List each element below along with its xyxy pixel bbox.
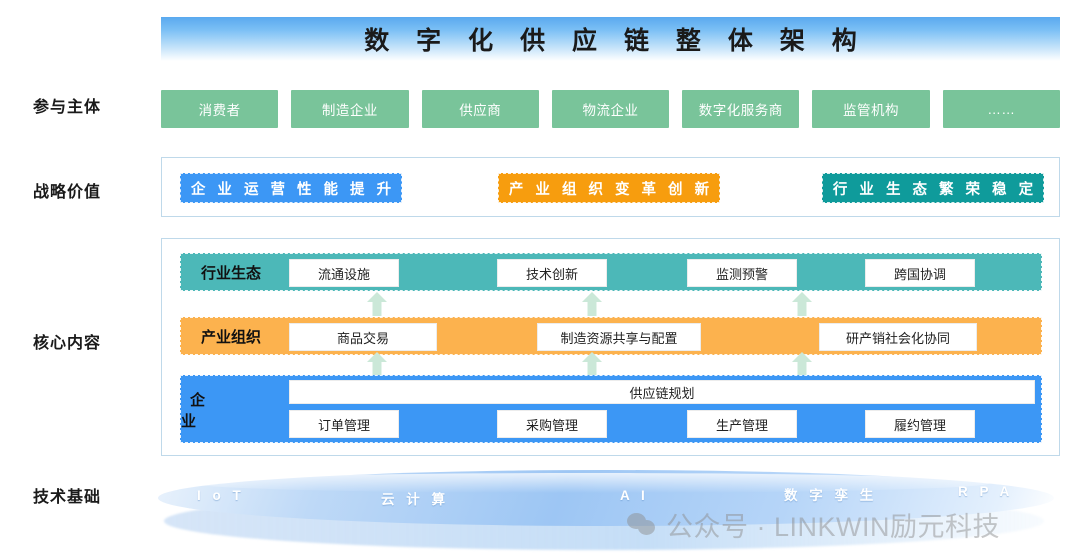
- architecture-diagram: 数 字 化 供 应 链 整 体 架 构 参与主体 战略价值 核心内容 技术基础 …: [0, 0, 1080, 556]
- cell-enterprise[interactable]: 订单管理: [289, 410, 399, 438]
- cell-enterprise[interactable]: 采购管理: [497, 410, 607, 438]
- layer-title-industry: 产业组织: [181, 318, 281, 354]
- tech-label-iot: I o T: [193, 488, 245, 503]
- layer-enterprise: 企 业 供应链规划 订单管理 采购管理 生产管理 履约管理: [180, 375, 1042, 443]
- up-arrow-icon: [366, 291, 388, 317]
- row-label-strategy: 战略价值: [33, 178, 101, 202]
- strategy-pill-enterprise[interactable]: 企 业 运 营 性 能 提 升: [180, 173, 402, 203]
- core-content-panel: 行业生态 流通设施 技术创新 监测预警 跨国协调 产业组织 商品交易 制造资源共…: [161, 238, 1060, 456]
- tech-label-digital-twin: 数 字 孪 生: [780, 484, 877, 504]
- layer-industry-organization: 产业组织 商品交易 制造资源共享与配置 研产销社会化协同: [180, 317, 1042, 355]
- strategy-pill-ecosystem[interactable]: 行 业 生 态 繁 荣 稳 定: [822, 173, 1044, 203]
- cell-ecosystem[interactable]: 跨国协调: [865, 259, 975, 287]
- layer-ecosystem: 行业生态 流通设施 技术创新 监测预警 跨国协调: [180, 253, 1042, 291]
- cell-ecosystem[interactable]: 流通设施: [289, 259, 399, 287]
- layer-title-ecosystem: 行业生态: [181, 254, 281, 290]
- row-label-tech: 技术基础: [33, 483, 101, 507]
- cell-industry[interactable]: 制造资源共享与配置: [537, 323, 701, 351]
- cell-ecosystem[interactable]: 技术创新: [497, 259, 607, 287]
- row-label-core: 核心内容: [33, 329, 101, 353]
- layer-title-enterprise: 企 业: [181, 376, 281, 444]
- up-arrow-icon: [366, 351, 388, 377]
- cell-supply-chain-planning[interactable]: 供应链规划: [289, 380, 1035, 404]
- cell-ecosystem[interactable]: 监测预警: [687, 259, 797, 287]
- tech-label-ai: A I: [616, 488, 649, 503]
- cell-enterprise[interactable]: 履约管理: [865, 410, 975, 438]
- up-arrow-icon: [581, 291, 603, 317]
- participant-box[interactable]: 物流企业: [552, 90, 669, 128]
- participant-box[interactable]: 供应商: [422, 90, 539, 128]
- tech-label-cloud: 云 计 算: [377, 488, 449, 508]
- participant-box[interactable]: 数字化服务商: [682, 90, 799, 128]
- cell-enterprise[interactable]: 生产管理: [687, 410, 797, 438]
- tech-base-ellipse: I o T 云 计 算 A I 数 字 孪 生 R P A: [130, 462, 1060, 556]
- page-title: 数 字 化 供 应 链 整 体 架 构: [354, 21, 867, 57]
- participant-box[interactable]: 制造企业: [291, 90, 408, 128]
- tech-label-rpa: R P A: [954, 484, 1013, 499]
- participants-row: 消费者 制造企业 供应商 物流企业 数字化服务商 监管机构 ……: [161, 90, 1060, 128]
- strategy-pill-industry[interactable]: 产 业 组 织 变 革 创 新: [498, 173, 720, 203]
- up-arrow-icon: [791, 351, 813, 377]
- up-arrow-icon: [791, 291, 813, 317]
- cell-industry[interactable]: 研产销社会化协同: [819, 323, 977, 351]
- cell-industry[interactable]: 商品交易: [289, 323, 437, 351]
- row-label-participants: 参与主体: [33, 93, 101, 117]
- strategy-value-panel: 企 业 运 营 性 能 提 升 产 业 组 织 变 革 创 新 行 业 生 态 …: [161, 157, 1060, 217]
- diagram-title-bar: 数 字 化 供 应 链 整 体 架 构: [161, 17, 1060, 61]
- participant-box[interactable]: ……: [943, 90, 1060, 128]
- up-arrow-icon: [581, 351, 603, 377]
- participant-box[interactable]: 消费者: [161, 90, 278, 128]
- participant-box[interactable]: 监管机构: [812, 90, 929, 128]
